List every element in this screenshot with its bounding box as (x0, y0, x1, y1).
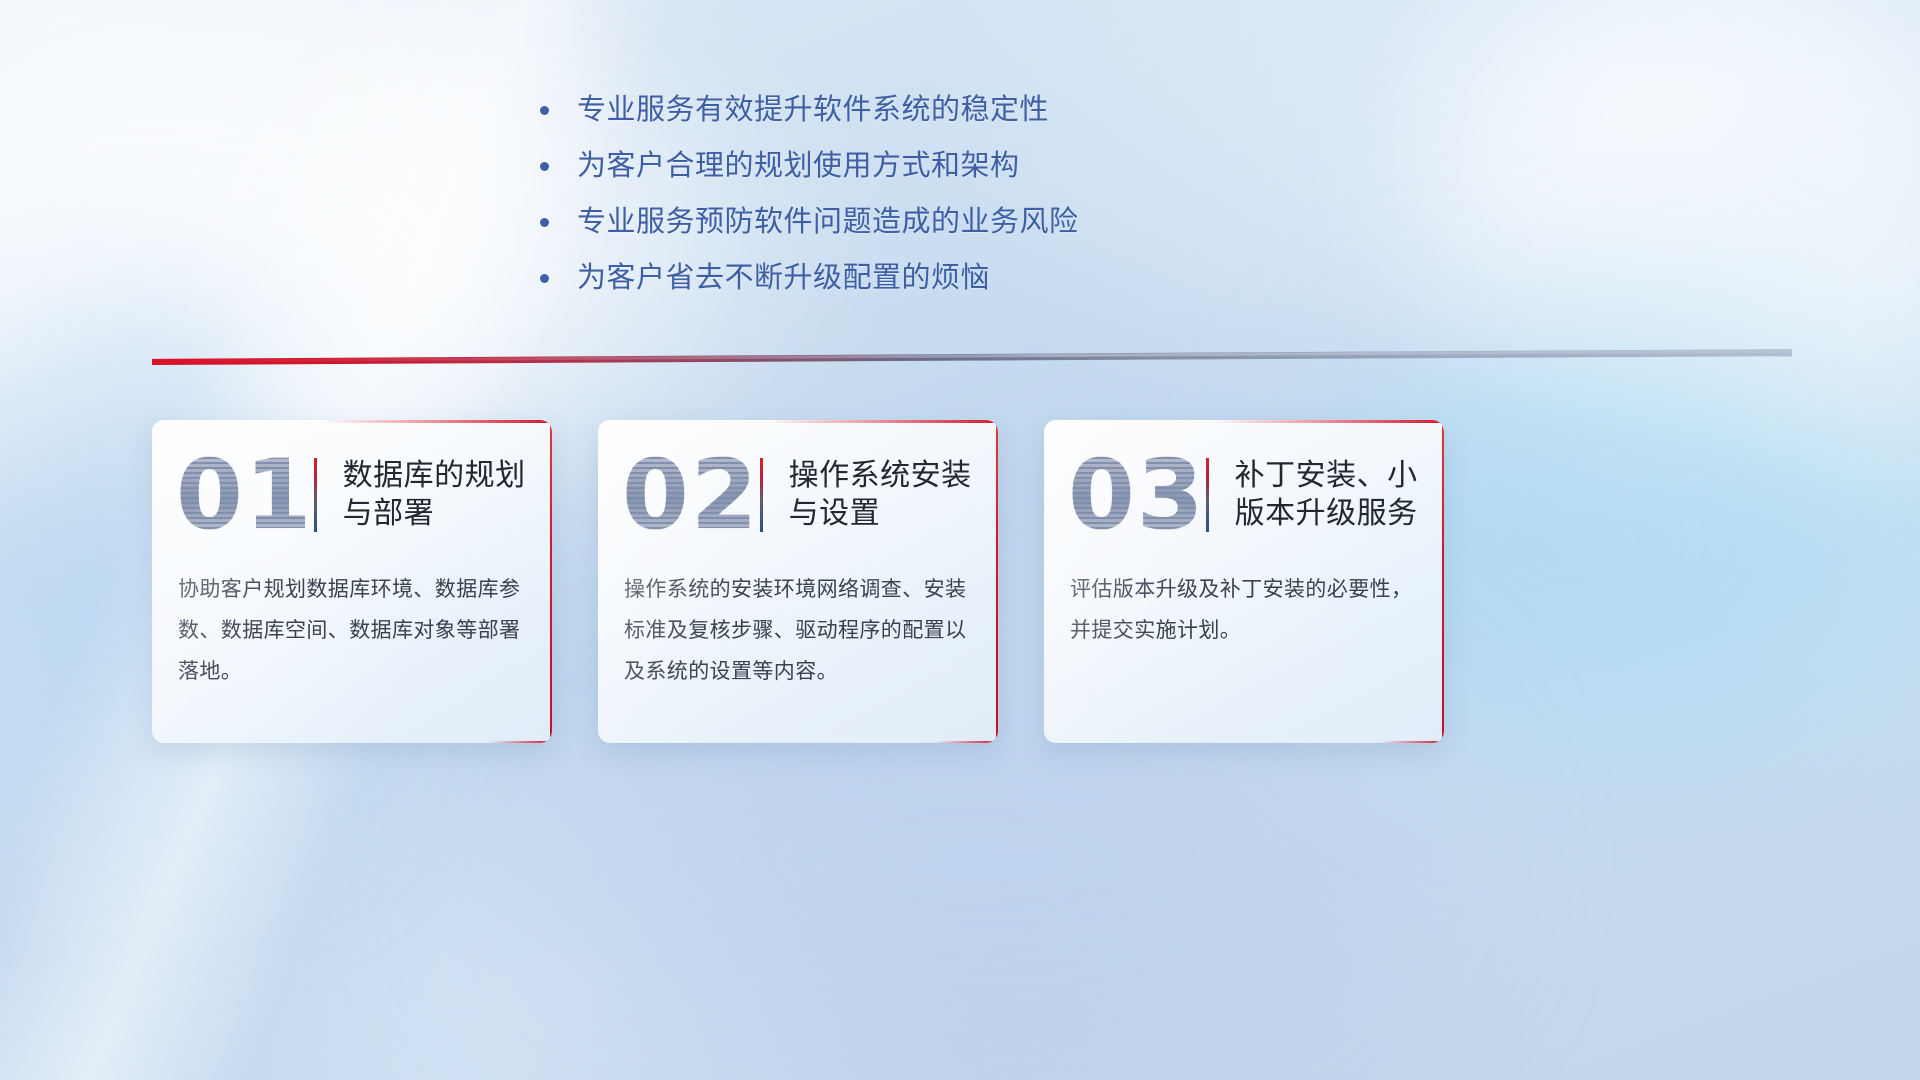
list-item-label: 为客户合理的规划使用方式和架构 (577, 148, 1020, 185)
bullet-dot-icon (540, 218, 549, 227)
service-card-03[interactable]: 03 补丁安装、小版本升级服务 评估版本升级及补丁安装的必要性，并提交实施计划。 (1044, 420, 1444, 743)
bullet-dot-icon (540, 106, 549, 115)
card-title: 操作系统安装与设置 (789, 457, 998, 534)
card-number: 03 (1068, 447, 1206, 543)
card-header: 02 操作系统安装与设置 (598, 420, 998, 570)
list-item: 专业服务有效提升软件系统的稳定性 (540, 92, 1360, 129)
benefits-list: 专业服务有效提升软件系统的稳定性 为客户合理的规划使用方式和架构 专业服务预防软… (540, 92, 1360, 316)
card-accent-bottom (934, 741, 998, 744)
card-description: 协助客户规划数据库环境、数据库参数、数据库空间、数据库对象等部署落地。 (152, 570, 552, 693)
bullet-dot-icon (540, 162, 549, 171)
list-item-label: 专业服务预防软件问题造成的业务风险 (577, 204, 1079, 241)
section-divider (152, 349, 1792, 365)
background-glow-top-right (1420, 0, 1920, 460)
list-item: 为客户合理的规划使用方式和架构 (540, 148, 1360, 185)
list-item-label: 专业服务有效提升软件系统的稳定性 (577, 92, 1049, 129)
card-title: 补丁安装、小版本升级服务 (1235, 457, 1444, 534)
card-divider-bar (1206, 458, 1209, 532)
service-card-02[interactable]: 02 操作系统安装与设置 操作系统的安装环境网络调查、安装标准及复核步骤、驱动程… (598, 420, 998, 743)
card-divider-bar (760, 458, 763, 532)
bullet-dot-icon (540, 274, 549, 283)
list-item: 专业服务预防软件问题造成的业务风险 (540, 204, 1360, 241)
service-card-01[interactable]: 01 数据库的规划与部署 协助客户规划数据库环境、数据库参数、数据库空间、数据库… (152, 420, 552, 743)
card-number: 02 (622, 447, 760, 543)
card-accent-bottom (488, 741, 552, 744)
card-divider-bar (314, 458, 317, 532)
card-title: 数据库的规划与部署 (343, 457, 552, 534)
card-header: 01 数据库的规划与部署 (152, 420, 552, 570)
card-header: 03 补丁安装、小版本升级服务 (1044, 420, 1444, 570)
service-card-list: 01 数据库的规划与部署 协助客户规划数据库环境、数据库参数、数据库空间、数据库… (152, 420, 1444, 743)
card-description: 评估版本升级及补丁安装的必要性，并提交实施计划。 (1044, 570, 1444, 652)
card-accent-bottom (1380, 741, 1444, 744)
list-item-label: 为客户省去不断升级配置的烦恼 (577, 260, 990, 297)
card-number: 01 (176, 447, 314, 543)
card-description: 操作系统的安装环境网络调查、安装标准及复核步骤、驱动程序的配置以及系统的设置等内… (598, 570, 998, 693)
slide-canvas: 专业服务有效提升软件系统的稳定性 为客户合理的规划使用方式和架构 专业服务预防软… (0, 0, 1920, 1080)
list-item: 为客户省去不断升级配置的烦恼 (540, 260, 1360, 297)
